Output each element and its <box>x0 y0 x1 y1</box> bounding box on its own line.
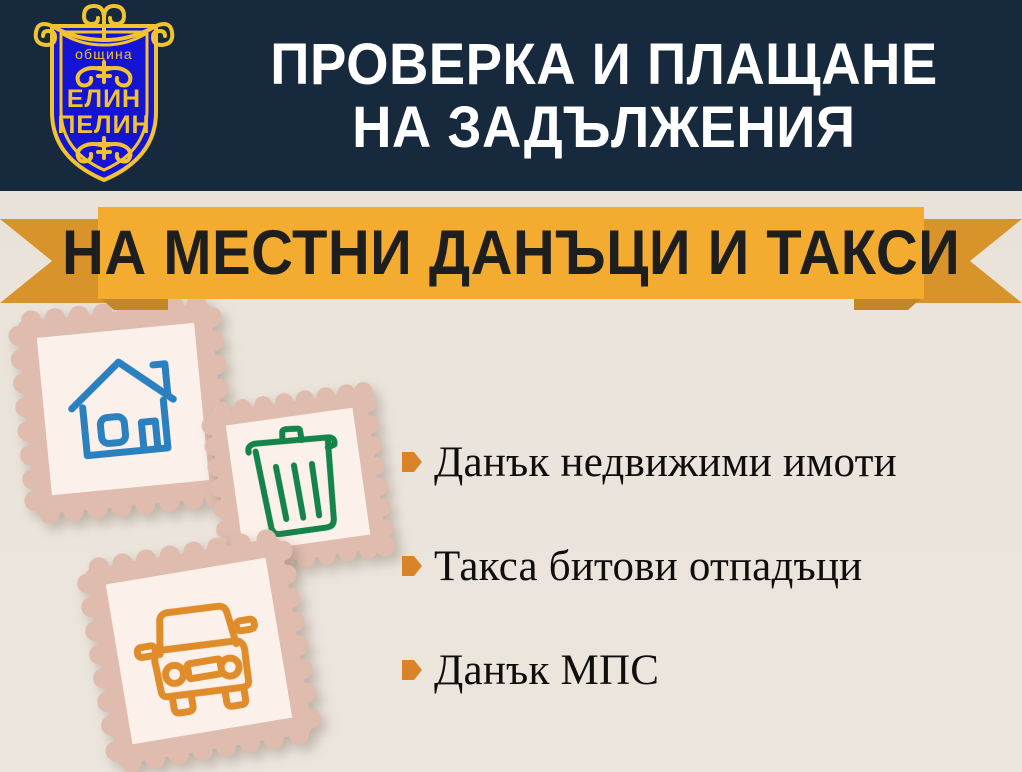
logo-name-line1: ЕЛИН <box>67 85 141 113</box>
ribbon-band: НА МЕСТНИ ДАНЪЦИ И ТАКСИ <box>98 207 924 299</box>
list-item[interactable]: Данък недвижими имоти <box>400 410 1010 514</box>
stamp-card-vehicle-tax <box>71 523 327 772</box>
list-item[interactable]: Такса битови отпадъци <box>400 514 1010 618</box>
municipality-logo: община ЕЛИН ПЕЛИН <box>14 0 194 191</box>
title-line-1: ПРОВЕРКА И ПЛАЩАНЕ <box>270 34 937 97</box>
list-item-label: Такса битови отпадъци <box>434 542 862 591</box>
subtitle-ribbon: НА МЕСТНИ ДАНЪЦИ И ТАКСИ <box>0 191 1022 313</box>
page-title: ПРОВЕРКА И ПЛАЩАНЕ НА ЗАДЪЛЖЕНИЯ <box>196 14 1012 179</box>
title-line-2: НА ЗАДЪЛЖЕНИЯ <box>352 97 855 160</box>
list-item-label: Данък недвижими имоти <box>434 438 897 487</box>
ribbon-text: НА МЕСТНИ ДАНЪЦИ И ТАКСИ <box>62 222 960 285</box>
list-item[interactable]: Данък МПС <box>400 618 1010 722</box>
coat-of-arms-icon: община ЕЛИН ПЕЛИН <box>14 0 194 191</box>
logo-small-text: община <box>75 46 133 62</box>
poster-canvas: община ЕЛИН ПЕЛИН ПРОВЕРКА И ПЛАЩАНЕ НА … <box>0 0 1022 772</box>
header-bar: община ЕЛИН ПЕЛИН ПРОВЕРКА И ПЛАЩАНЕ НА … <box>0 0 1022 191</box>
logo-name-line2: ПЕЛИН <box>57 111 150 139</box>
list-item-label: Данък МПС <box>434 646 659 695</box>
arrow-bullet-icon <box>400 553 434 579</box>
arrow-bullet-icon <box>400 449 434 475</box>
arrow-bullet-icon <box>400 657 434 683</box>
tax-type-list: Данък недвижими имоти Такса битови отпад… <box>400 410 1010 722</box>
